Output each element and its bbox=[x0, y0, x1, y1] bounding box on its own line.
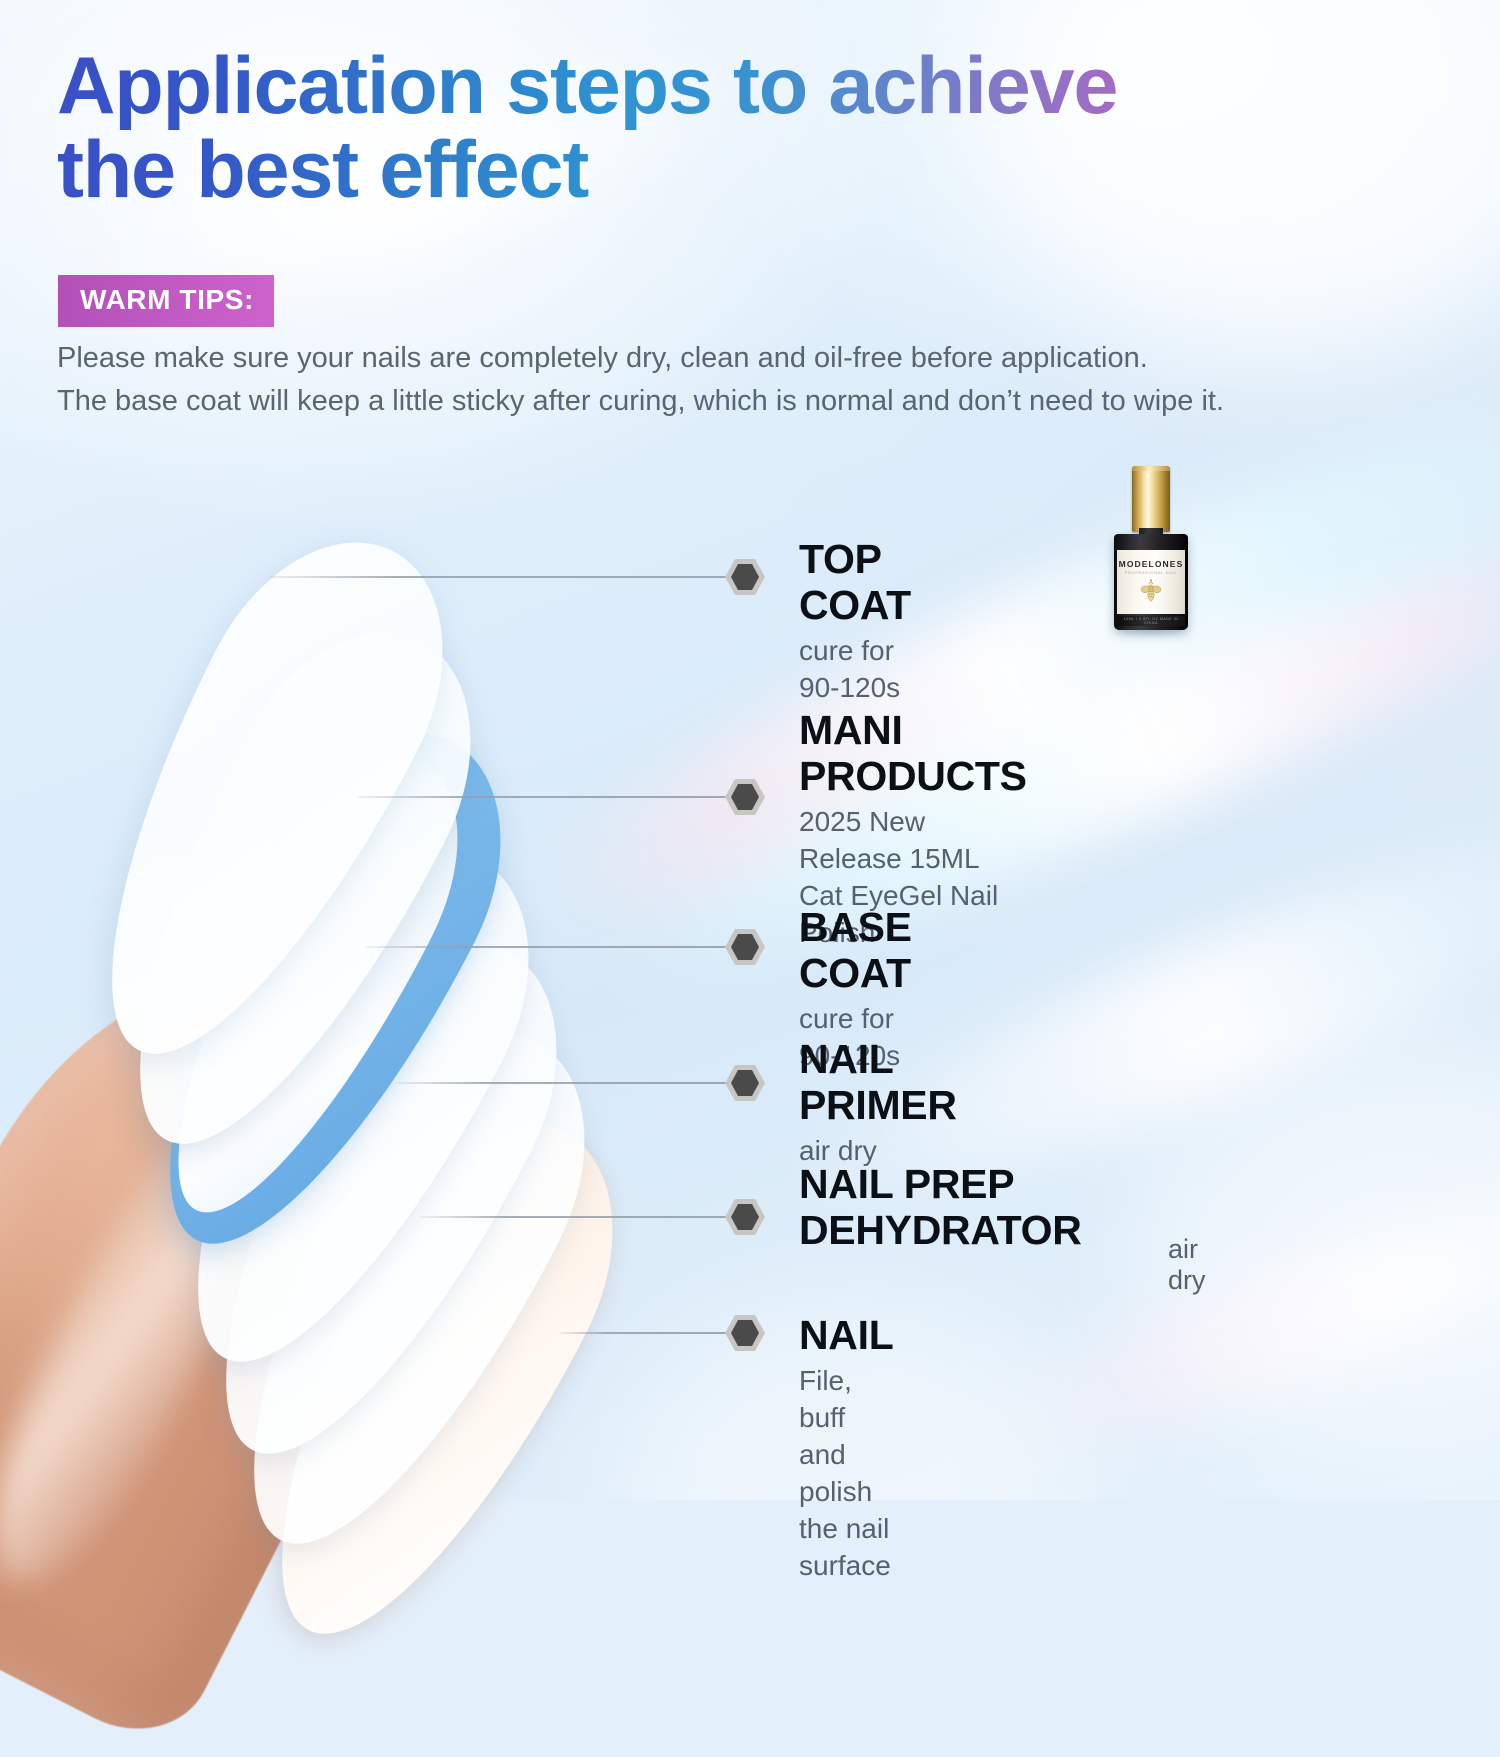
callout-subtitle: cure for 90-120s bbox=[799, 633, 911, 707]
bottle-cap bbox=[1132, 466, 1170, 532]
hexagon-marker-icon bbox=[723, 557, 767, 597]
callout-subtitle: File, buff and polish the nail surface bbox=[799, 1363, 893, 1585]
callout-title: MANI PRODUCTS bbox=[799, 708, 1027, 800]
hexagon-marker-icon bbox=[723, 1063, 767, 1103]
bee-crown-emblem-icon bbox=[1136, 578, 1166, 604]
leader-line bbox=[560, 1332, 730, 1334]
hexagon-marker-icon bbox=[723, 777, 767, 817]
callout-text: NAIL File, buff and polish the nail surf… bbox=[799, 1313, 893, 1585]
leader-line bbox=[396, 1082, 730, 1084]
hexagon-marker-icon bbox=[723, 1313, 767, 1353]
callout-text: NAIL PREP DEHYDRATOR bbox=[799, 1162, 1082, 1254]
callout-title: NAIL PRIMER bbox=[799, 1037, 957, 1129]
callout-title: BASE COAT bbox=[799, 905, 912, 997]
leader-line bbox=[366, 946, 730, 948]
bottle-tagline-text: PROFESSIONAL NAIL bbox=[1117, 570, 1185, 575]
hexagon-marker-icon bbox=[723, 1197, 767, 1237]
leader-line bbox=[268, 576, 730, 578]
leader-line bbox=[358, 796, 730, 798]
callout-text: TOP COAT cure for 90-120s bbox=[799, 537, 911, 707]
callout-title: TOP COAT bbox=[799, 537, 911, 629]
callout-title: NAIL PREP DEHYDRATOR bbox=[799, 1162, 1082, 1254]
callout-list: TOP COAT cure for 90-120s MANI PRODUCTS … bbox=[0, 0, 1500, 1500]
hexagon-marker-icon bbox=[723, 927, 767, 967]
callout-text: NAIL PRIMER air dry bbox=[799, 1037, 957, 1170]
bottle-brand-text: MODELONES bbox=[1117, 559, 1185, 569]
bottle-cap-top bbox=[1132, 466, 1170, 471]
leader-line bbox=[420, 1216, 730, 1218]
product-bottle-image: MODELONES PROFESSIONAL NAIL 15ML / 0.5FL… bbox=[1108, 466, 1194, 634]
callout-inline-subtitle: air dry bbox=[1168, 1234, 1206, 1296]
callout-title: NAIL bbox=[799, 1313, 893, 1359]
bottle-footer-text: 15ML / 0.5FL.OZ MADE IN CHINA bbox=[1117, 617, 1185, 625]
